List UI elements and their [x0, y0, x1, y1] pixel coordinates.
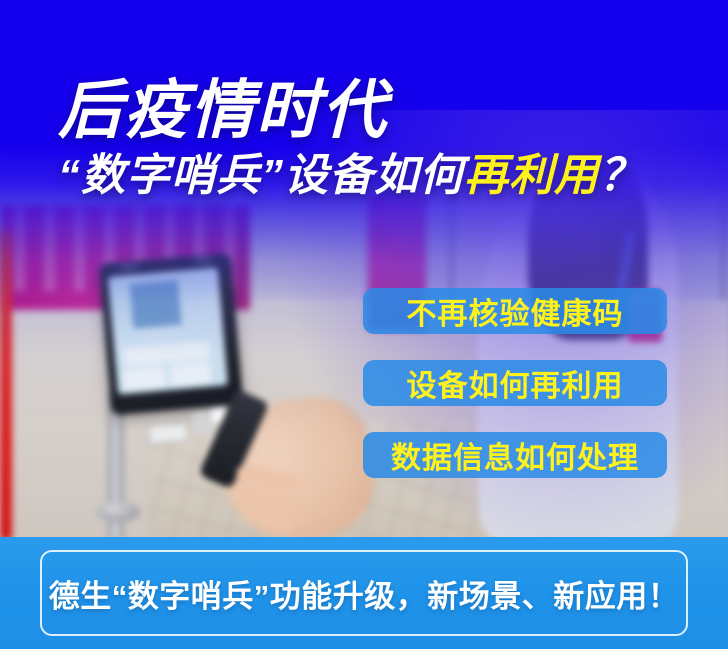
feature-pill-label: 数据信息如何处理: [391, 433, 639, 477]
headline-accent-text: 再利用: [464, 151, 599, 200]
feature-pill-device-reuse[interactable]: 设备如何再利用: [363, 360, 667, 406]
headline-question-mark: ？: [599, 151, 644, 200]
headline-block: 后疫情时代 “数字哨兵”设备如何再利用？: [58, 78, 718, 198]
feature-pill-label: 不再核验健康码: [407, 289, 624, 333]
feature-pill-data-handling[interactable]: 数据信息如何处理: [363, 432, 667, 478]
poster-canvas: 后疫情时代 “数字哨兵”设备如何再利用？ 不再核验健康码 设备如何再利用 数据信…: [0, 0, 728, 649]
feature-pill-health-code[interactable]: 不再核验健康码: [363, 288, 667, 334]
headline-line-2: “数字哨兵”设备如何再利用？: [58, 154, 718, 198]
bottom-banner-text: 德生“数字哨兵”功能升级，新场景、新应用！: [49, 571, 680, 616]
feature-pill-label: 设备如何再利用: [407, 361, 624, 405]
headline-line-2-prefix: “数字哨兵”设备如何: [58, 151, 464, 200]
bottom-banner-frame: 德生“数字哨兵”功能升级，新场景、新应用！: [40, 550, 688, 636]
headline-line-1: 后疫情时代: [58, 78, 718, 142]
feature-pill-list: 不再核验健康码 设备如何再利用 数据信息如何处理: [363, 288, 667, 478]
bottom-banner: 德生“数字哨兵”功能升级，新场景、新应用！: [0, 537, 728, 649]
